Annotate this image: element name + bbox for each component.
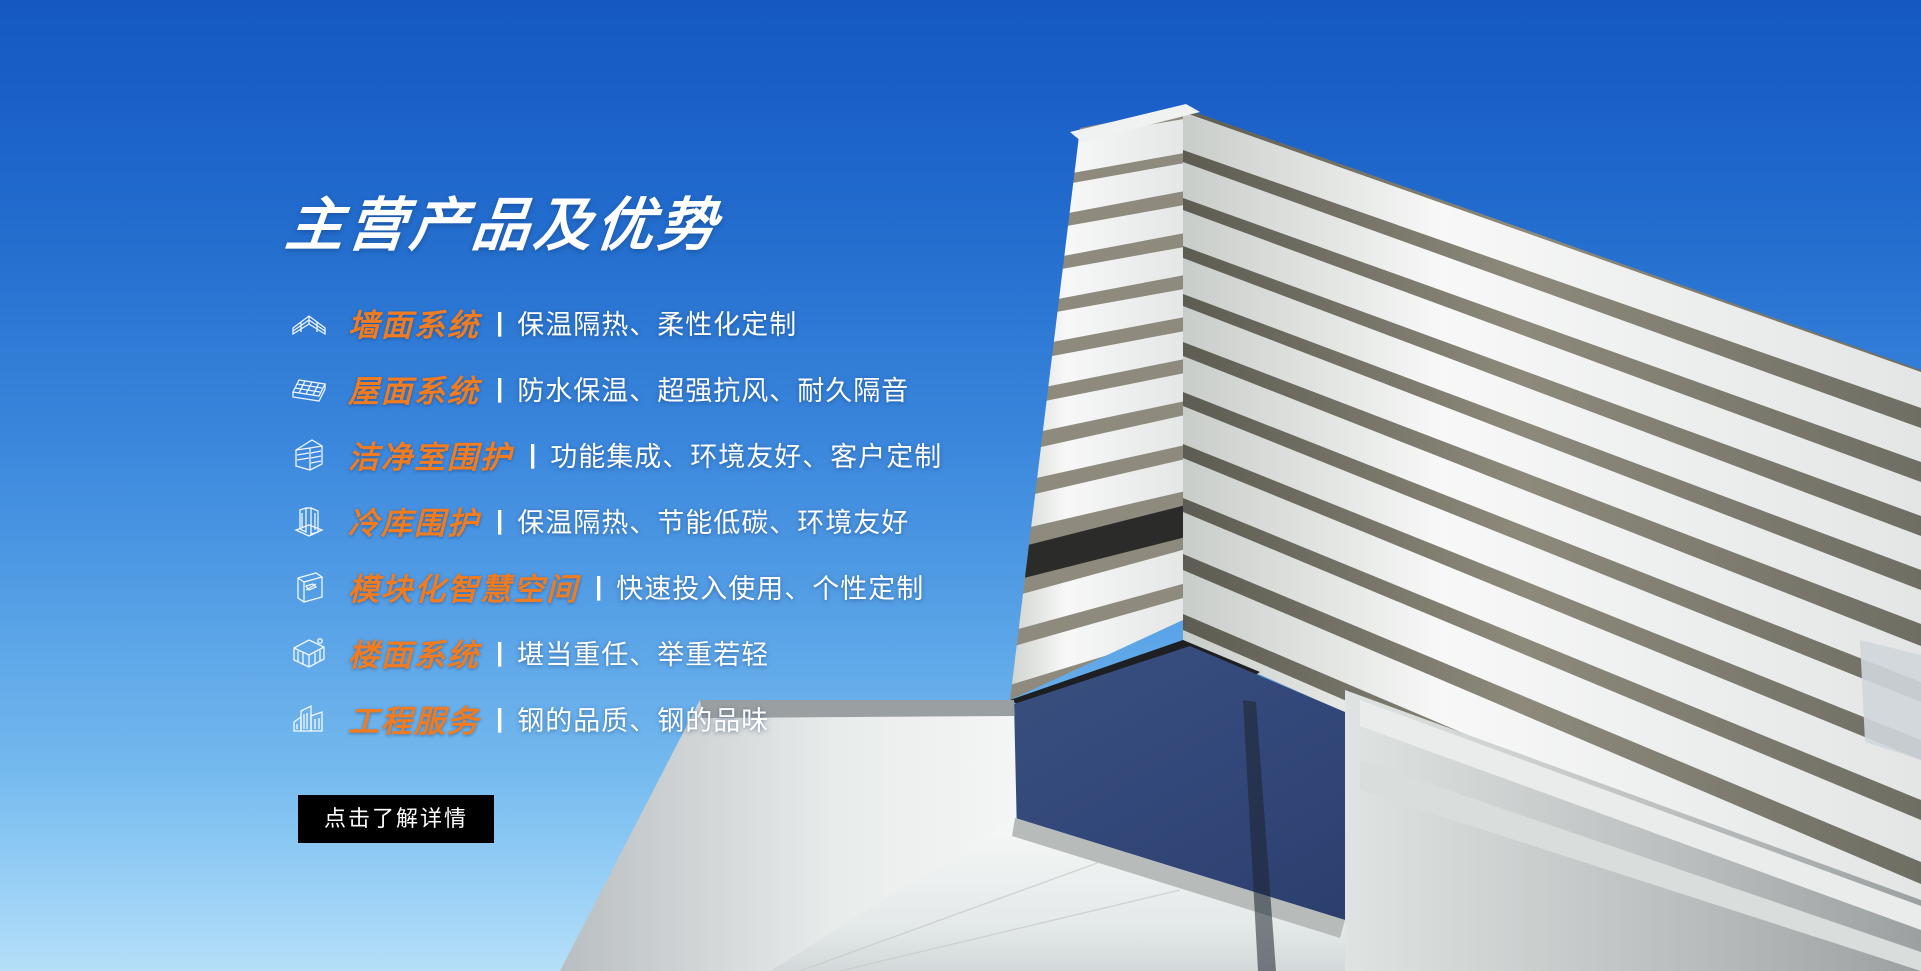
product-desc: 钢的品质、钢的品味: [517, 699, 769, 738]
product-desc: 快速投入使用、个性定制: [616, 567, 924, 606]
product-title: 洁净室围护: [348, 432, 513, 477]
list-item[interactable]: 工程服务 | 钢的品质、钢的品味: [286, 697, 1346, 741]
product-desc: 保温隔热、节能低碳、环境友好: [517, 501, 909, 540]
cleanroom-building-icon: [286, 433, 332, 477]
learn-more-button[interactable]: 点击了解详情: [298, 795, 494, 843]
separator: |: [496, 309, 503, 335]
list-item[interactable]: 屋面系统 | 防水保温、超强抗风、耐久隔音: [286, 367, 1346, 411]
product-desc: 堪当重任、举重若轻: [517, 633, 769, 672]
banner-stage: 主营产品及优势 墙面系统 | 保温隔热、柔性化定制: [0, 0, 1921, 971]
separator: |: [529, 441, 536, 467]
modular-cube-icon: [286, 565, 332, 609]
product-title: 工程服务: [348, 696, 480, 741]
product-list: 墙面系统 | 保温隔热、柔性化定制 屋面系统: [286, 301, 1346, 741]
engineering-service-icon: [286, 697, 332, 741]
separator: |: [496, 375, 503, 401]
separator: |: [595, 573, 602, 599]
page-title: 主营产品及优势: [283, 196, 723, 257]
product-title: 冷库围护: [348, 498, 480, 543]
cold-storage-icon: [286, 499, 332, 543]
product-desc: 防水保温、超强抗风、耐久隔音: [517, 369, 909, 408]
product-title: 楼面系统: [348, 630, 480, 675]
product-desc: 保温隔热、柔性化定制: [517, 303, 797, 342]
list-item[interactable]: 模块化智慧空间 | 快速投入使用、个性定制: [286, 565, 1346, 609]
wall-panel-icon: [286, 301, 332, 345]
product-desc: 功能集成、环境友好、客户定制: [550, 435, 942, 474]
floor-deck-icon: [286, 631, 332, 675]
list-item[interactable]: 墙面系统 | 保温隔热、柔性化定制: [286, 301, 1346, 345]
separator: |: [496, 639, 503, 665]
separator: |: [496, 507, 503, 533]
separator: |: [496, 705, 503, 731]
roof-panel-icon: [286, 367, 332, 411]
product-title: 屋面系统: [348, 366, 480, 411]
list-item[interactable]: 洁净室围护 | 功能集成、环境友好、客户定制: [286, 433, 1346, 477]
product-title: 墙面系统: [348, 300, 480, 345]
product-title: 模块化智慧空间: [348, 564, 579, 609]
list-item[interactable]: 楼面系统 | 堪当重任、举重若轻: [286, 631, 1346, 675]
list-item[interactable]: 冷库围护 | 保温隔热、节能低碳、环境友好: [286, 499, 1346, 543]
promo-content: 主营产品及优势 墙面系统 | 保温隔热、柔性化定制: [286, 196, 1346, 843]
